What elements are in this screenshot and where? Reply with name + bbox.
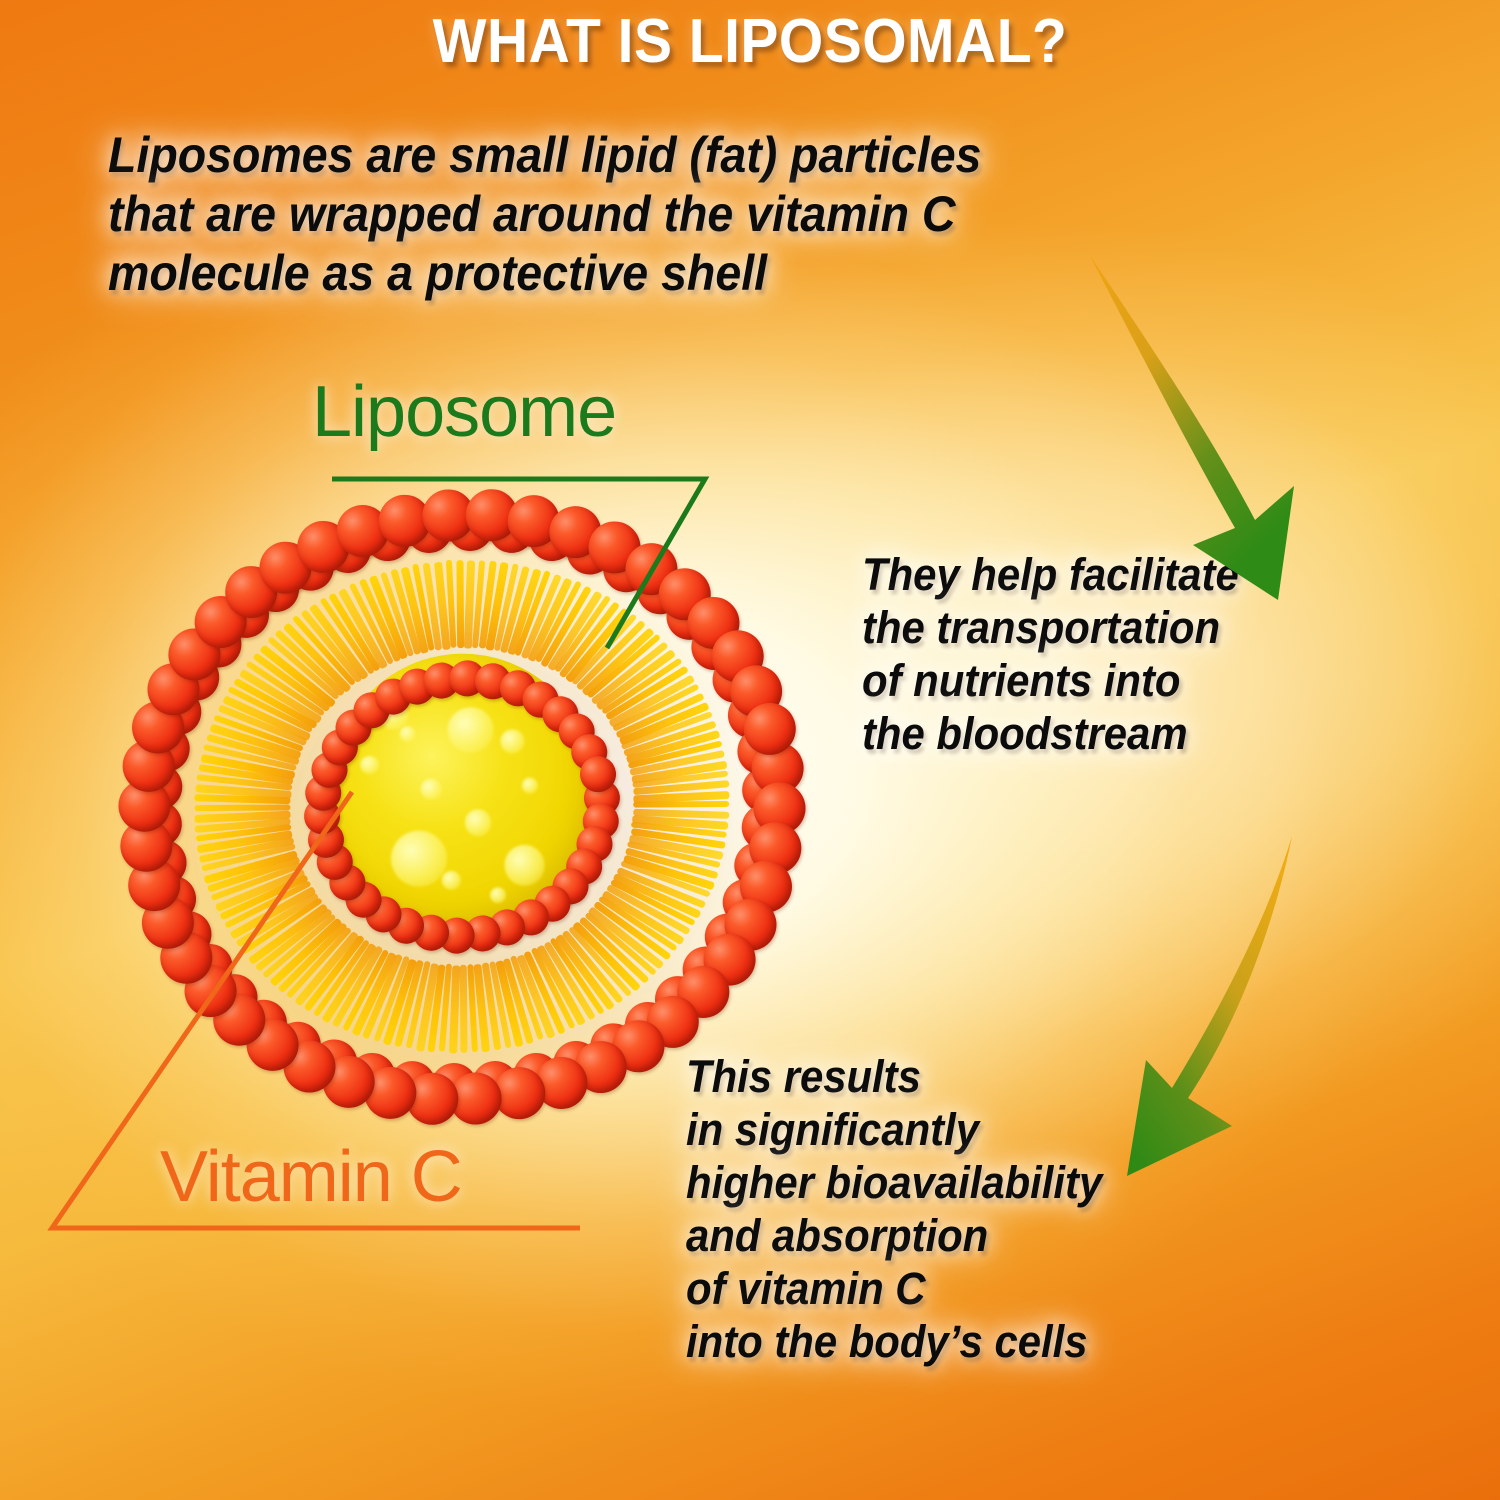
middle-line-2: the transportation xyxy=(862,601,1239,654)
bottom-line-4: and absorption xyxy=(686,1209,1102,1262)
lipid-tail xyxy=(634,801,730,808)
intro-line-2: that are wrapped around the vitamin C xyxy=(108,185,981,244)
lipid-tail xyxy=(456,560,464,648)
bottom-line-6: into the body’s cells xyxy=(686,1315,1102,1368)
liposome-diagram xyxy=(128,500,796,1114)
core-bubble xyxy=(463,808,493,838)
bottom-line-3: higher bioavailability xyxy=(686,1156,1102,1209)
lipid-tail xyxy=(194,804,290,811)
arrow-to-bioavailability-icon xyxy=(1127,836,1292,1176)
middle-line-4: the bloodstream xyxy=(862,707,1239,760)
transportation-text-block: They help facilitate the transportation … xyxy=(862,548,1239,760)
middle-line-1: They help facilitate xyxy=(862,548,1239,601)
intro-line-1: Liposomes are small lipid (fat) particle… xyxy=(108,126,981,185)
liposome-callout-label: Liposome xyxy=(312,371,616,453)
core-bubble xyxy=(445,705,496,756)
lipid-tail xyxy=(460,965,468,1053)
liposome-stage xyxy=(93,462,831,1153)
core-bubble xyxy=(419,777,443,801)
infographic-poster: WHAT IS LIPOSOMAL? Liposomes are small l… xyxy=(0,0,1500,1500)
bottom-line-5: of vitamin C xyxy=(686,1262,1102,1315)
middle-line-3: of nutrients into xyxy=(862,654,1239,707)
core-bubble xyxy=(499,728,526,755)
core-bubble xyxy=(399,725,417,743)
intro-text-block: Liposomes are small lipid (fat) particle… xyxy=(108,126,981,303)
core-bubble xyxy=(521,777,539,795)
page-title: WHAT IS LIPOSOMAL? xyxy=(60,6,1440,77)
core-bubble xyxy=(489,886,507,904)
vitamin-c-callout-label: Vitamin C xyxy=(160,1136,462,1218)
core-bubble xyxy=(441,870,462,891)
core-bubble xyxy=(503,843,548,888)
intro-line-3: molecule as a protective shell xyxy=(108,244,981,303)
core-bubble xyxy=(360,754,381,775)
